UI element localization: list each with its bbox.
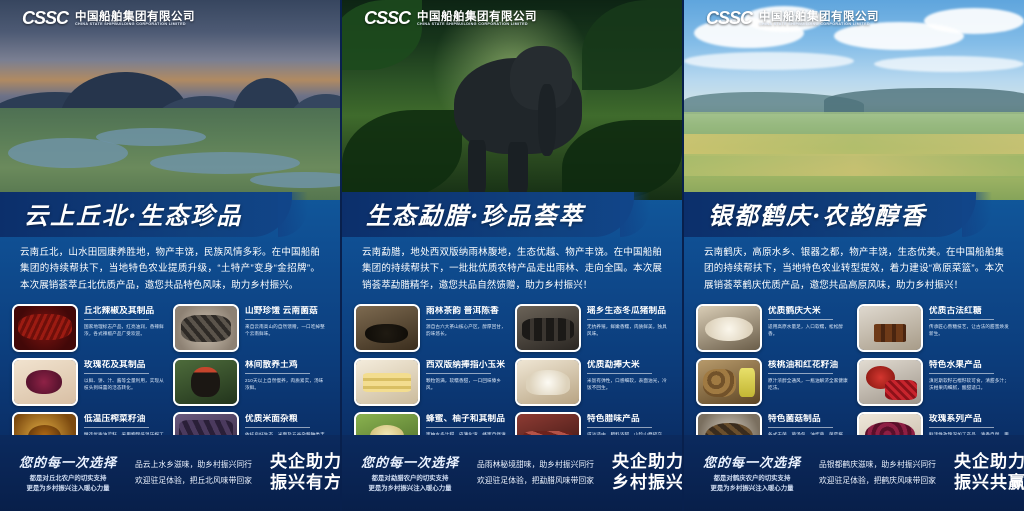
product-name: 特色腊味产品 xyxy=(587,414,670,424)
product-desc: 来自云南高山的自然馈赠，一口吃掉整个云南鲜味。 xyxy=(245,323,328,337)
divider xyxy=(587,427,652,428)
divider xyxy=(929,427,994,428)
divider xyxy=(245,427,310,428)
footer-slogan-block: 您的每一次选择 都是对鹤庆农户的切实支持 更是为乡村振兴注入暖心力量 xyxy=(694,452,810,495)
title-ribbon: 云上丘北·生态珍品 xyxy=(0,192,340,237)
product-desc: 国家地理标志产品，红亮油润，香辣鲜浓，各式辣椒产品广受欢迎。 xyxy=(84,323,167,337)
cssc-logo: CSSC 中国船舶集团有限公司 CHINA STATE SHIPBUILDING… xyxy=(364,8,537,29)
product-card[interactable]: 丘北辣椒及其制品国家地理标志产品，红亮油润，香辣鲜浓，各式辣椒产品广受欢迎。 xyxy=(12,304,167,352)
footer-script-line: 您的每一次选择 xyxy=(703,452,801,471)
poster-board: CSSC 中国船舶集团有限公司 CHINA STATE SHIPBUILDING… xyxy=(0,0,1024,511)
product-thumbnail xyxy=(515,358,581,406)
elephant-trunk xyxy=(538,84,556,156)
cssc-cn-text: 中国船舶集团有限公司 xyxy=(75,11,195,23)
product-desc: 原汁浓醇全通风，一瓶油解济全家健康吃法。 xyxy=(768,377,851,391)
panel-intro: 云南勐腊，地处西双版纳雨林腹地，生态优越、物产丰饶。在中国船舶集团的持续帮扶下，… xyxy=(342,237,682,300)
product-card[interactable]: 瑶乡生态冬瓜猪制品无抗养殖，鲜嫩香糯，肉质鲜美，独具风味。 xyxy=(515,304,670,352)
product-thumbnail xyxy=(173,358,239,406)
footer-invite-line-2: 欢迎驻足体验，把鹤庆风味带回家 xyxy=(819,473,936,489)
divider xyxy=(587,319,652,320)
footer-sub-line-2: 更是为乡村振兴注入暖心力量 xyxy=(19,484,117,494)
product-name: 优质古法红糖 xyxy=(929,306,1012,316)
footer-sub-line-2: 更是为乡村振兴注入暖心力量 xyxy=(703,484,801,494)
product-card[interactable]: 西双版纳捧指小玉米颗粒饱满，软糯香甜，一口回味傣乡风。 xyxy=(354,358,509,406)
footer-tagline-2: 乡村振兴 xyxy=(612,473,682,494)
cssc-wordmark: CSSC xyxy=(22,8,68,29)
product-name: 山野珍馐 云南菌菇 xyxy=(245,306,328,316)
product-thumbnail xyxy=(12,358,78,406)
product-name: 特色菌菇制品 xyxy=(768,414,851,424)
panel-mengla: CSSC 中国船舶集团有限公司 CHINA STATE SHIPBUILDING… xyxy=(340,0,682,511)
farm-plot xyxy=(684,112,1024,136)
product-desc: 适用高原水量足，入口软糯，松松醇香。 xyxy=(768,323,851,337)
panel-footer: 您的每一次选择 都是对丘北农户的切实支持 更是为乡村振兴注入暖心力量 品云上水乡… xyxy=(0,435,340,511)
panel-title: 生态勐腊·珍品荟萃 xyxy=(366,196,584,231)
panel-title: 银都鹤庆·农韵醇香 xyxy=(708,196,926,231)
panel-title: 云上丘北·生态珍品 xyxy=(24,196,242,231)
divider xyxy=(587,373,652,374)
product-name: 玫瑰系列产品 xyxy=(929,414,1012,424)
footer-invite-line-1: 品银都鹤庆滋味，助乡村振兴同行 xyxy=(819,457,936,473)
cssc-company-name-en: CHINA STATE SHIPBUILDING CORPORATION LIM… xyxy=(75,23,197,27)
product-card[interactable]: 优质勐捧大米米饭有弹性，口感细软，表面油光，冷饭不回生。 xyxy=(515,358,670,406)
footer-tagline-1: 央企助力 xyxy=(954,452,1024,473)
product-desc: 颗粒饱满，软糯香甜，一口回味傣乡风。 xyxy=(426,377,509,391)
divider xyxy=(84,373,149,374)
cssc-wordmark: CSSC xyxy=(706,8,752,29)
divider xyxy=(84,319,149,320)
hero-image-mengla: CSSC 中国船舶集团有限公司 CHINA STATE SHIPBUILDING… xyxy=(342,0,682,200)
product-thumbnail xyxy=(12,304,78,352)
product-name: 特色水果产品 xyxy=(929,360,1012,370)
footer-tagline-1: 央企助力 xyxy=(270,452,340,473)
footer-invite-line-2: 欢迎驻足体验，把勐腊风味带回家 xyxy=(477,473,594,489)
product-card[interactable]: 玫瑰花及其制品以鲜、饼、汁、酱等全量利用，实现从枝头到味蕾的活态转化。 xyxy=(12,358,167,406)
cssc-logo: CSSC 中国船舶集团有限公司 CHINA STATE SHIPBUILDING… xyxy=(22,8,195,29)
product-card[interactable]: 优质古法红糖传承匠心熬糖技艺，让古法的甜蜜焕发新生。 xyxy=(857,304,1012,352)
cssc-company-name-cn: 中国船舶集团有限公司 CHINA STATE SHIPBUILDING CORP… xyxy=(417,11,537,27)
footer-script-line: 您的每一次选择 xyxy=(19,452,117,471)
footer-invite-block: 品雨林秘境甜味，助乡村振兴同行 欢迎驻足体验，把勐腊风味带回家 xyxy=(468,457,603,488)
product-name: 雨林茶韵 普洱陈香 xyxy=(426,306,509,316)
product-name: 玫瑰花及其制品 xyxy=(84,360,167,370)
cssc-company-name-en: CHINA STATE SHIPBUILDING CORPORATION LIM… xyxy=(417,23,539,27)
divider xyxy=(245,373,310,374)
divider xyxy=(426,427,491,428)
water-body xyxy=(150,152,300,174)
product-thumbnail xyxy=(354,304,420,352)
divider xyxy=(929,373,994,374)
product-name: 西双版纳捧指小玉米 xyxy=(426,360,509,370)
cloud-shape xyxy=(684,52,854,70)
product-card[interactable]: 雨林茶韵 普洱陈香源自古六大茶山核心产区，醇厚回甘，韵味悠长。 xyxy=(354,304,509,352)
footer-tagline-2: 振兴有方 xyxy=(270,473,340,494)
product-name: 优质米面杂粮 xyxy=(245,414,328,424)
footer-sub-line-1: 都是对丘北农户的切实支持 xyxy=(19,474,117,484)
product-name: 核桃油和红花籽油 xyxy=(768,360,851,370)
elephant-leg xyxy=(508,142,528,194)
elephant-leg xyxy=(468,140,486,194)
cssc-wordmark: CSSC xyxy=(364,8,410,29)
divider xyxy=(84,427,149,428)
product-card[interactable]: 优质鹤庆大米适用高原水量足，入口软糯，松松醇香。 xyxy=(696,304,851,352)
cssc-cn-text: 中国船舶集团有限公司 xyxy=(417,11,537,23)
product-card[interactable]: 山野珍馐 云南菌菇来自云南高山的自然馈赠，一口吃掉整个云南鲜味。 xyxy=(173,304,328,352)
product-thumbnail xyxy=(696,358,762,406)
footer-tagline-2: 振兴共赢 xyxy=(954,473,1024,494)
product-card[interactable]: 林间散养土鸡210天以上自然慢养，肉质紧实，汤味浓鲜。 xyxy=(173,358,328,406)
product-name: 蜂蜜、柚子和其制品 xyxy=(426,414,509,424)
product-thumbnail xyxy=(696,304,762,352)
farm-plot xyxy=(684,134,1024,156)
divider xyxy=(929,319,994,320)
cloud-shape xyxy=(874,56,1024,72)
footer-invite-line-1: 品云上水乡滋味，助乡村振兴同行 xyxy=(135,457,252,473)
cssc-company-name-cn: 中国船舶集团有限公司 CHINA STATE SHIPBUILDING CORP… xyxy=(75,11,195,27)
footer-slogan-block: 您的每一次选择 都是对丘北农户的切实支持 更是为乡村振兴注入暖心力量 xyxy=(10,452,126,495)
product-name: 瑶乡生态冬瓜猪制品 xyxy=(587,306,670,316)
panel-footer: 您的每一次选择 都是对勐腊农户的切实支持 更是为乡村振兴注入暖心力量 品雨林秘境… xyxy=(342,435,682,511)
footer-sub-line-2: 更是为乡村振兴注入暖心力量 xyxy=(361,484,459,494)
product-thumbnail xyxy=(173,304,239,352)
hero-image-qiubei: CSSC 中国船舶集团有限公司 CHINA STATE SHIPBUILDING… xyxy=(0,0,340,200)
product-name: 优质鹤庆大米 xyxy=(768,306,851,316)
footer-sub-line-1: 都是对鹤庆农户的切实支持 xyxy=(703,474,801,484)
mountain-ridge xyxy=(824,88,1024,114)
panel-intro: 云南鹤庆，高原水乡、银器之都，物产丰饶，生态优美。在中国船舶集团的持续帮扶下，当… xyxy=(684,237,1024,300)
product-thumbnail xyxy=(857,358,923,406)
product-name: 林间散养土鸡 xyxy=(245,360,328,370)
footer-tagline-block: 央企助力 振兴有方 xyxy=(261,452,340,493)
footer-invite-block: 品云上水乡滋味，助乡村振兴同行 欢迎驻足体验，把丘北风味带回家 xyxy=(126,457,261,488)
product-card[interactable]: 特色水果产品滇尼斯软籽石榴籽软可食，清甜多汁；沃柑果肉细腻，酸甜适口。 xyxy=(857,358,1012,406)
cssc-cn-text: 中国船舶集团有限公司 xyxy=(759,11,879,23)
product-name: 丘北辣椒及其制品 xyxy=(84,306,167,316)
product-desc: 滇尼斯软籽石榴籽软可食，清甜多汁；沃柑果肉细腻，酸甜适口。 xyxy=(929,377,1012,391)
product-desc: 传承匠心熬糖技艺，让古法的甜蜜焕发新生。 xyxy=(929,323,1012,337)
panel-heqing: CSSC 中国船舶集团有限公司 CHINA STATE SHIPBUILDING… xyxy=(682,0,1024,511)
panel-qiubei: CSSC 中国船舶集团有限公司 CHINA STATE SHIPBUILDING… xyxy=(0,0,340,511)
hero-image-heqing: CSSC 中国船舶集团有限公司 CHINA STATE SHIPBUILDING… xyxy=(684,0,1024,200)
footer-invite-line-1: 品雨林秘境甜味，助乡村振兴同行 xyxy=(477,457,594,473)
product-thumbnail xyxy=(515,304,581,352)
product-name: 低温压榨菜籽油 xyxy=(84,414,167,424)
footer-invite-block: 品银都鹤庆滋味，助乡村振兴同行 欢迎驻足体验，把鹤庆风味带回家 xyxy=(810,457,945,488)
cssc-company-name-en: CHINA STATE SHIPBUILDING CORPORATION LIM… xyxy=(759,23,881,27)
product-desc: 210天以上自然慢养，肉质紧实，汤味浓鲜。 xyxy=(245,377,328,391)
panel-intro: 云南丘北，山水田园康养胜地，物产丰饶，民族风情多彩。在中国船舶集团的持续帮扶下，… xyxy=(0,237,340,300)
footer-tagline-block: 央企助力 乡村振兴 xyxy=(603,452,682,493)
product-name: 优质勐捧大米 xyxy=(587,360,670,370)
water-body xyxy=(96,128,206,146)
cssc-company-name-cn: 中国船舶集团有限公司 CHINA STATE SHIPBUILDING CORP… xyxy=(759,11,879,27)
title-ribbon: 银都鹤庆·农韵醇香 xyxy=(684,192,1024,237)
cloud-shape xyxy=(924,8,1024,34)
product-thumbnail xyxy=(354,358,420,406)
product-desc: 源自古六大茶山核心产区，醇厚回甘，韵味悠长。 xyxy=(426,323,509,337)
divider xyxy=(426,373,491,374)
product-desc: 无抗养殖，鲜嫩香糯，肉质鲜美，独具风味。 xyxy=(587,323,670,337)
footer-tagline-block: 央企助力 振兴共赢 xyxy=(945,452,1024,493)
product-desc: 米饭有弹性，口感细软，表面油光，冷饭不回生。 xyxy=(587,377,670,391)
footer-tagline-1: 央企助力 xyxy=(612,452,682,473)
panel-footer: 您的每一次选择 都是对鹤庆农户的切实支持 更是为乡村振兴注入暖心力量 品银都鹤庆… xyxy=(684,435,1024,511)
cssc-logo: CSSC 中国船舶集团有限公司 CHINA STATE SHIPBUILDING… xyxy=(706,8,879,29)
farm-plot xyxy=(684,154,1024,178)
product-thumbnail xyxy=(857,304,923,352)
divider xyxy=(768,373,833,374)
product-card[interactable]: 核桃油和红花籽油原汁浓醇全通风，一瓶油解济全家健康吃法。 xyxy=(696,358,851,406)
divider xyxy=(768,427,833,428)
footer-slogan-block: 您的每一次选择 都是对勐腊农户的切实支持 更是为乡村振兴注入暖心力量 xyxy=(352,452,468,495)
divider xyxy=(426,319,491,320)
footer-sub-line-1: 都是对勐腊农户的切实支持 xyxy=(361,474,459,484)
footer-invite-line-2: 欢迎驻足体验，把丘北风味带回家 xyxy=(135,473,252,489)
product-desc: 以鲜、饼、汁、酱等全量利用，实现从枝头到味蕾的活态转化。 xyxy=(84,377,167,391)
divider xyxy=(768,319,833,320)
footer-script-line: 您的每一次选择 xyxy=(361,452,459,471)
title-ribbon: 生态勐腊·珍品荟萃 xyxy=(342,192,682,237)
divider xyxy=(245,319,310,320)
